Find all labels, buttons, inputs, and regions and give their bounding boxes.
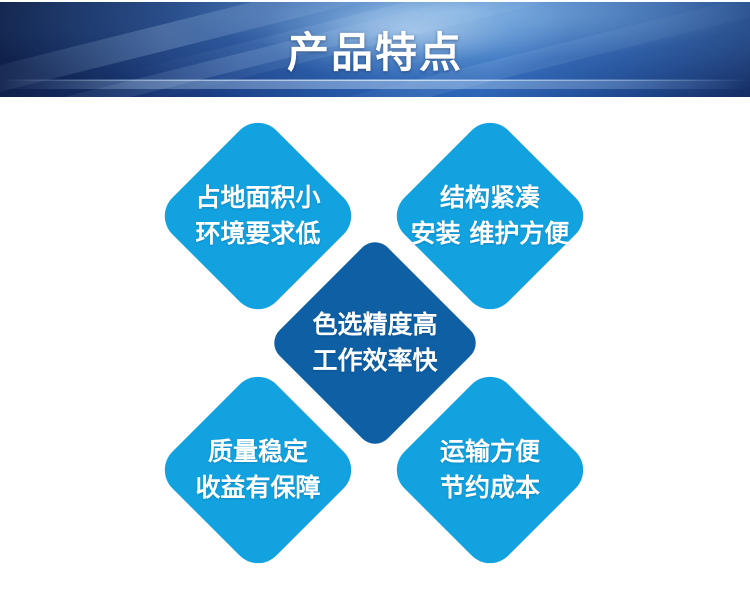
feature-label-bottom-right-line1: 运输方便: [440, 434, 540, 470]
feature-label-bottom-left-line2: 收益有保障: [195, 470, 320, 506]
feature-label-center: 色选精度高 工作效率快: [312, 307, 437, 379]
feature-label-top-right-line2: 安装 维护方便: [411, 216, 570, 252]
feature-label-top-left-line1: 占地面积小: [195, 180, 320, 216]
feature-label-center-line1: 色选精度高: [312, 307, 437, 343]
feature-label-top-right: 结构紧凑 安装 维护方便: [411, 180, 570, 252]
feature-label-bottom-right: 运输方便 节约成本: [440, 434, 540, 506]
header-banner: 产品特点: [0, 0, 750, 99]
feature-label-bottom-right-line2: 节约成本: [440, 470, 540, 506]
feature-label-top-left: 占地面积小 环境要求低: [195, 180, 320, 252]
feature-label-top-right-line1: 结构紧凑: [411, 180, 570, 216]
feature-label-top-left-line2: 环境要求低: [195, 216, 320, 252]
feature-label-bottom-left: 质量稳定 收益有保障: [195, 434, 320, 506]
feature-label-bottom-left-line1: 质量稳定: [195, 434, 320, 470]
page-title: 产品特点: [0, 28, 750, 78]
product-features-slide: 产品特点 占地面积小 环境要求低 结构紧凑 安装 维护方便 色选精度高 工作效率…: [0, 0, 750, 598]
features-diagram: 占地面积小 环境要求低 结构紧凑 安装 维护方便 色选精度高 工作效率快 质量稳…: [0, 99, 750, 598]
feature-label-center-line2: 工作效率快: [312, 343, 437, 379]
